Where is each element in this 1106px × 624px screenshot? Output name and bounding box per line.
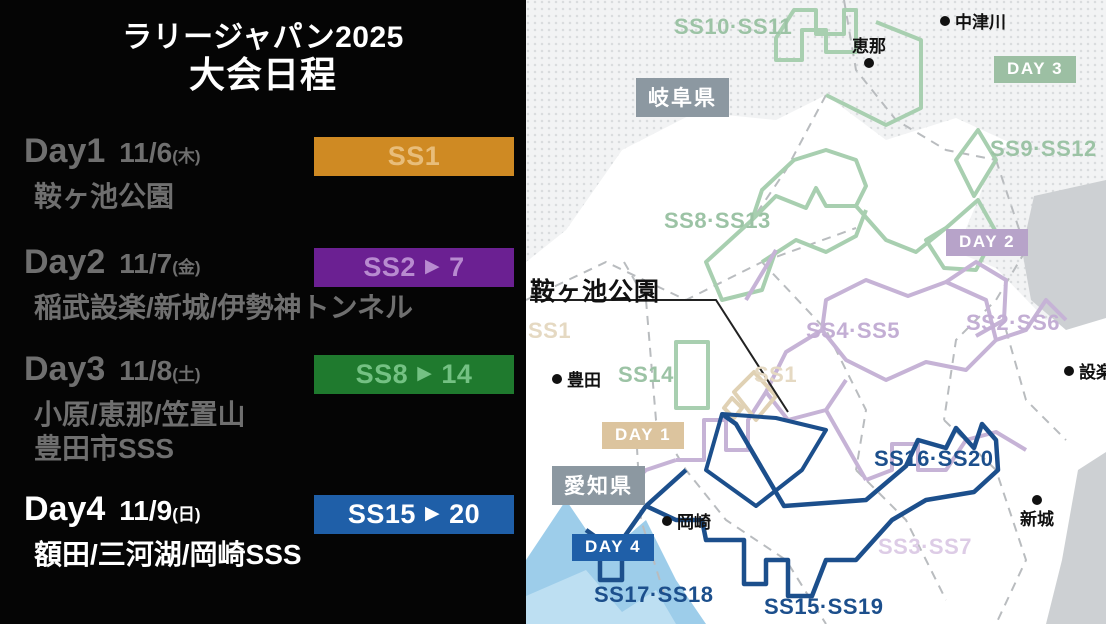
- ss-label-ss10-ss11: SS10·SS11: [674, 14, 792, 40]
- day-row-3[interactable]: Day3 11/8 (土) SS8 ▶ 14 小原/恵那/笠置山 豊田市SSS: [0, 352, 526, 466]
- rally-route-map[interactable]: 岐阜県 愛知県 DAY 3 DAY 2 DAY 1 DAY 4 SS10·SS1…: [526, 0, 1106, 624]
- prefecture-chip-aichi: 愛知県: [552, 466, 645, 505]
- city-marker-icon: [552, 374, 562, 384]
- day-4-ss-end: 20: [449, 499, 480, 530]
- city-marker-icon: [864, 58, 874, 68]
- day-4-ss-badge[interactable]: SS15 ▶ 20: [314, 495, 514, 534]
- title-line-2: 大会日程: [0, 54, 526, 96]
- city-label: 設楽: [1079, 358, 1106, 383]
- callout-leader-line: [530, 300, 788, 412]
- city-marker-icon: [1064, 366, 1074, 376]
- ss-label-ss16-ss20: SS16·SS20: [874, 446, 993, 472]
- day-1-ss-start: SS1: [388, 141, 441, 172]
- ss-label-ss1-left: SS1: [528, 318, 571, 344]
- city-marker-icon: [1032, 495, 1042, 505]
- day-4-ss-start: SS15: [348, 499, 416, 530]
- city-nakatsugawa: 中津川: [940, 8, 1006, 33]
- day-3-places-2: 豊田市SSS: [0, 432, 526, 466]
- ss-label-ss8-ss13: SS8·SS13: [664, 208, 771, 234]
- day-chip-3[interactable]: DAY 3: [994, 56, 1076, 83]
- day-1-label: Day1: [24, 134, 105, 168]
- day-3-date: 11/8: [119, 357, 172, 385]
- day-2-ss-end: 7: [449, 252, 465, 283]
- ss-label-ss9-ss12: SS9·SS12: [990, 136, 1097, 162]
- range-arrow-icon: ▶: [425, 255, 440, 278]
- ss-label-ss4-ss5: SS4·SS5: [806, 318, 900, 344]
- day-2-ss-start: SS2: [363, 252, 416, 283]
- range-arrow-icon: ▶: [417, 362, 432, 385]
- ss-label-ss1-center: SS1: [754, 362, 797, 388]
- panel-title: ラリージャパン2025 大会日程: [0, 22, 526, 97]
- day-3-label: Day3: [24, 352, 105, 386]
- range-arrow-icon: ▶: [425, 502, 440, 525]
- prefecture-chip-gifu: 岐阜県: [636, 78, 729, 117]
- day-2-places: 稲武設楽/新城/伊勢神トンネル: [0, 291, 526, 325]
- neighbor-prefecture-fill: [1022, 180, 1106, 624]
- day-3-ss-start: SS8: [356, 359, 409, 390]
- day-2-ss-badge[interactable]: SS2 ▶ 7: [314, 248, 514, 287]
- ss-label-ss3-ss7: SS3·SS7: [878, 534, 972, 560]
- city-okazaki: 岡崎: [662, 508, 711, 533]
- day-chip-1[interactable]: DAY 1: [602, 422, 684, 449]
- ss-label-ss14: SS14: [618, 362, 674, 388]
- schedule-panel: ラリージャパン2025 大会日程 Day1 11/6 (木) SS1 鞍ヶ池公園…: [0, 0, 526, 624]
- day-4-label: Day4: [24, 492, 105, 526]
- day-3-ss-badge[interactable]: SS8 ▶ 14: [314, 355, 514, 394]
- city-label: 岡崎: [677, 508, 711, 533]
- day-row-4[interactable]: Day4 11/9 (日) SS15 ▶ 20 額田/三河湖/岡崎SSS: [0, 492, 526, 572]
- ss-label-ss15-ss19: SS15·SS19: [764, 594, 883, 620]
- day-1-places: 鞍ヶ池公園: [0, 180, 526, 214]
- day-1-dayofweek: (木): [172, 142, 200, 167]
- day-1-date: 11/6: [119, 139, 172, 167]
- day-chip-2[interactable]: DAY 2: [946, 229, 1028, 256]
- day-1-header: Day1 11/6 (木) SS1: [0, 134, 526, 180]
- day-2-dayofweek: (金): [172, 253, 200, 278]
- day-4-dayofweek: (日): [172, 500, 200, 525]
- city-ena: 恵那: [852, 32, 886, 68]
- city-shitara: 設楽: [1064, 358, 1106, 383]
- city-marker-icon: [662, 516, 672, 526]
- city-label: 新城: [1020, 510, 1054, 529]
- day-2-header: Day2 11/7 (金) SS2 ▶ 7: [0, 245, 526, 291]
- day-chip-4[interactable]: DAY 4: [572, 534, 654, 561]
- city-label: 中津川: [955, 8, 1006, 33]
- day-row-1[interactable]: Day1 11/6 (木) SS1 鞍ヶ池公園: [0, 134, 526, 214]
- day-row-2[interactable]: Day2 11/7 (金) SS2 ▶ 7 稲武設楽/新城/伊勢神トンネル: [0, 245, 526, 325]
- ss-label-ss2-ss6: SS2·SS6: [966, 310, 1060, 336]
- city-shinshiro: 新城: [1020, 494, 1054, 530]
- day-4-date: 11/9: [119, 497, 172, 525]
- day-2-label: Day2: [24, 245, 105, 279]
- rally-schedule-graphic: ラリージャパン2025 大会日程 Day1 11/6 (木) SS1 鞍ヶ池公園…: [0, 0, 1106, 624]
- day-4-places: 額田/三河湖/岡崎SSS: [0, 538, 526, 572]
- day-3-dayofweek: (土): [172, 360, 200, 385]
- day-3-ss-end: 14: [441, 359, 472, 390]
- day-2-date: 11/7: [119, 250, 172, 278]
- city-label: 豊田: [567, 366, 601, 391]
- callout-kuragaike-park: 鞍ヶ池公園: [530, 272, 660, 308]
- city-label: 恵那: [852, 37, 886, 56]
- day-1-ss-badge[interactable]: SS1: [314, 137, 514, 176]
- city-toyota: 豊田: [552, 366, 601, 391]
- day-3-header: Day3 11/8 (土) SS8 ▶ 14: [0, 352, 526, 398]
- city-marker-icon: [940, 16, 950, 26]
- ss-label-ss17-ss18: SS17·SS18: [594, 582, 713, 608]
- day-3-places: 小原/恵那/笠置山: [0, 398, 526, 432]
- day-4-header: Day4 11/9 (日) SS15 ▶ 20: [0, 492, 526, 538]
- title-line-1: ラリージャパン2025: [0, 22, 526, 54]
